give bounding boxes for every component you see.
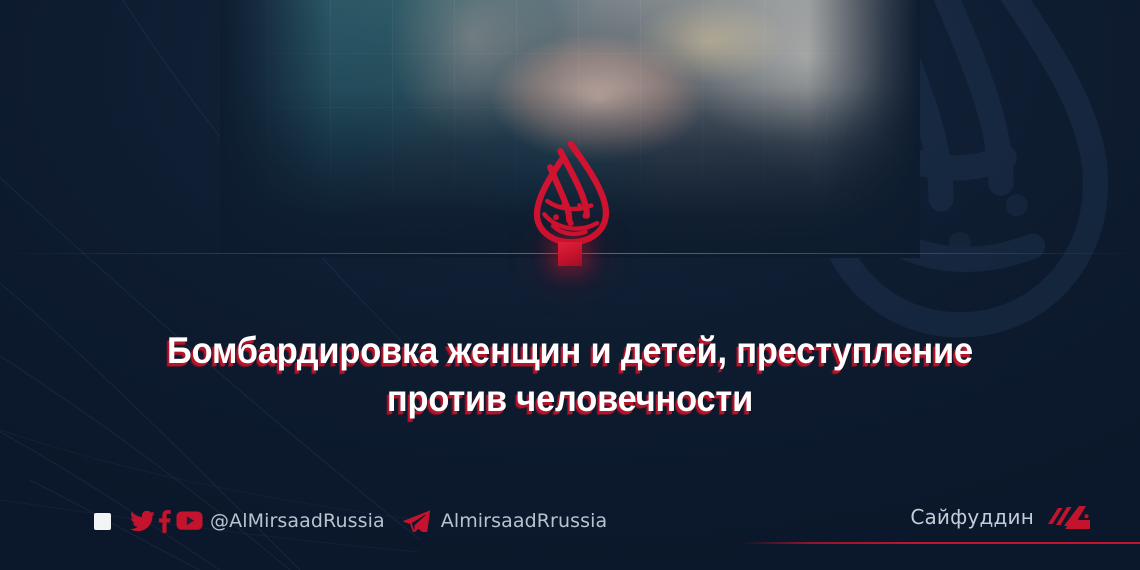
telegram-icon[interactable] xyxy=(403,510,430,532)
page-title: Бомбардировка женщин и детей, преступлен… xyxy=(105,327,1035,423)
author-name: Сайфуддин xyxy=(910,505,1034,529)
social-handle[interactable]: @AlMirsaadRussia xyxy=(210,510,385,532)
youtube-icon[interactable] xyxy=(176,512,203,531)
news-card: Бомбардировка женщин и детей, преступлен… xyxy=(0,0,1140,570)
red-square-accent xyxy=(558,242,582,266)
twitter-icon[interactable] xyxy=(130,511,155,532)
author-signature-mark xyxy=(1046,502,1092,532)
credit-underline xyxy=(740,542,1140,544)
al-mirsaad-logo-icon xyxy=(514,138,626,248)
facebook-icon[interactable] xyxy=(158,510,171,532)
footer-bar: @AlMirsaadRussia AlmirsaadRrussia Сайфуд… xyxy=(0,492,1140,570)
social-row: @AlMirsaadRussia AlmirsaadRrussia xyxy=(94,506,607,536)
telegram-handle[interactable]: AlmirsaadRrussia xyxy=(441,510,608,532)
author-credit: Сайфуддин xyxy=(910,500,1092,534)
white-square-marker xyxy=(94,513,111,530)
